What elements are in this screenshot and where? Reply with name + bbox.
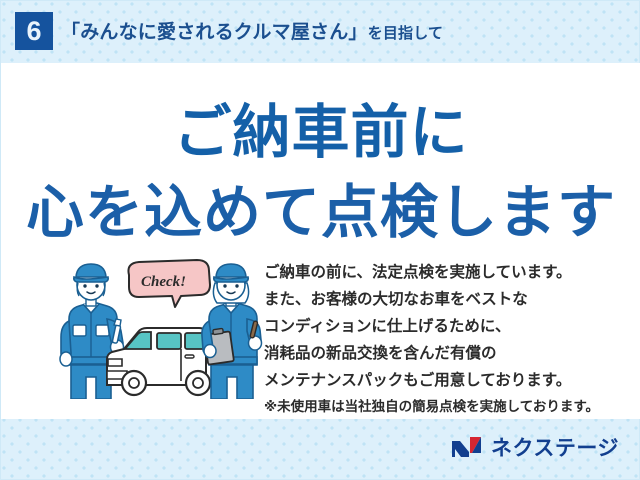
nexstage-n-mark-icon <box>450 435 484 459</box>
body-copy: ご納車の前に、法定点検を実施しています。 また、お客様の大切なお車をベストな コ… <box>264 259 634 419</box>
mechanics-illustration: Check! <box>59 259 264 399</box>
header-title: 「みんなに愛されるクルマ屋さん」を目指して <box>61 17 443 44</box>
body-line-5: メンテナンスパックもご用意しております。 <box>264 367 634 394</box>
poster-root: 6 「みんなに愛されるクルマ屋さん」を目指して ご納車前に 心を込めて点検します <box>0 0 640 480</box>
header-title-suffix: を目指して <box>368 25 444 42</box>
section-number-badge: 6 <box>15 12 53 50</box>
headline-line-2: 心を込めて点検します <box>1 165 640 249</box>
body-line-3: コンディションに仕上げるために、 <box>264 313 634 340</box>
brand-logo: ネクステージ <box>450 432 619 462</box>
headline-line-1: ご納車前に <box>1 85 640 169</box>
body-note: ※未使用車は当社独自の簡易点検を実施しております。 <box>264 394 634 419</box>
header: 6 「みんなに愛されるクルマ屋さん」を目指して <box>1 1 640 63</box>
brand-name: ネクステージ <box>491 432 619 462</box>
check-speech-bubble: Check! <box>128 260 210 307</box>
speech-bubble-text: Check! <box>141 274 186 290</box>
body-line-1: ご納車の前に、法定点検を実施しています。 <box>264 259 634 286</box>
header-title-quoted: 「みんなに愛されるクルマ屋さん」 <box>61 22 368 43</box>
content-card: ご納車前に 心を込めて点検します <box>1 63 640 419</box>
body-line-2: また、お客様の大切なお車をベストな <box>264 286 634 313</box>
body-line-4: 消耗品の新品交換を含んだ有償の <box>264 340 634 367</box>
